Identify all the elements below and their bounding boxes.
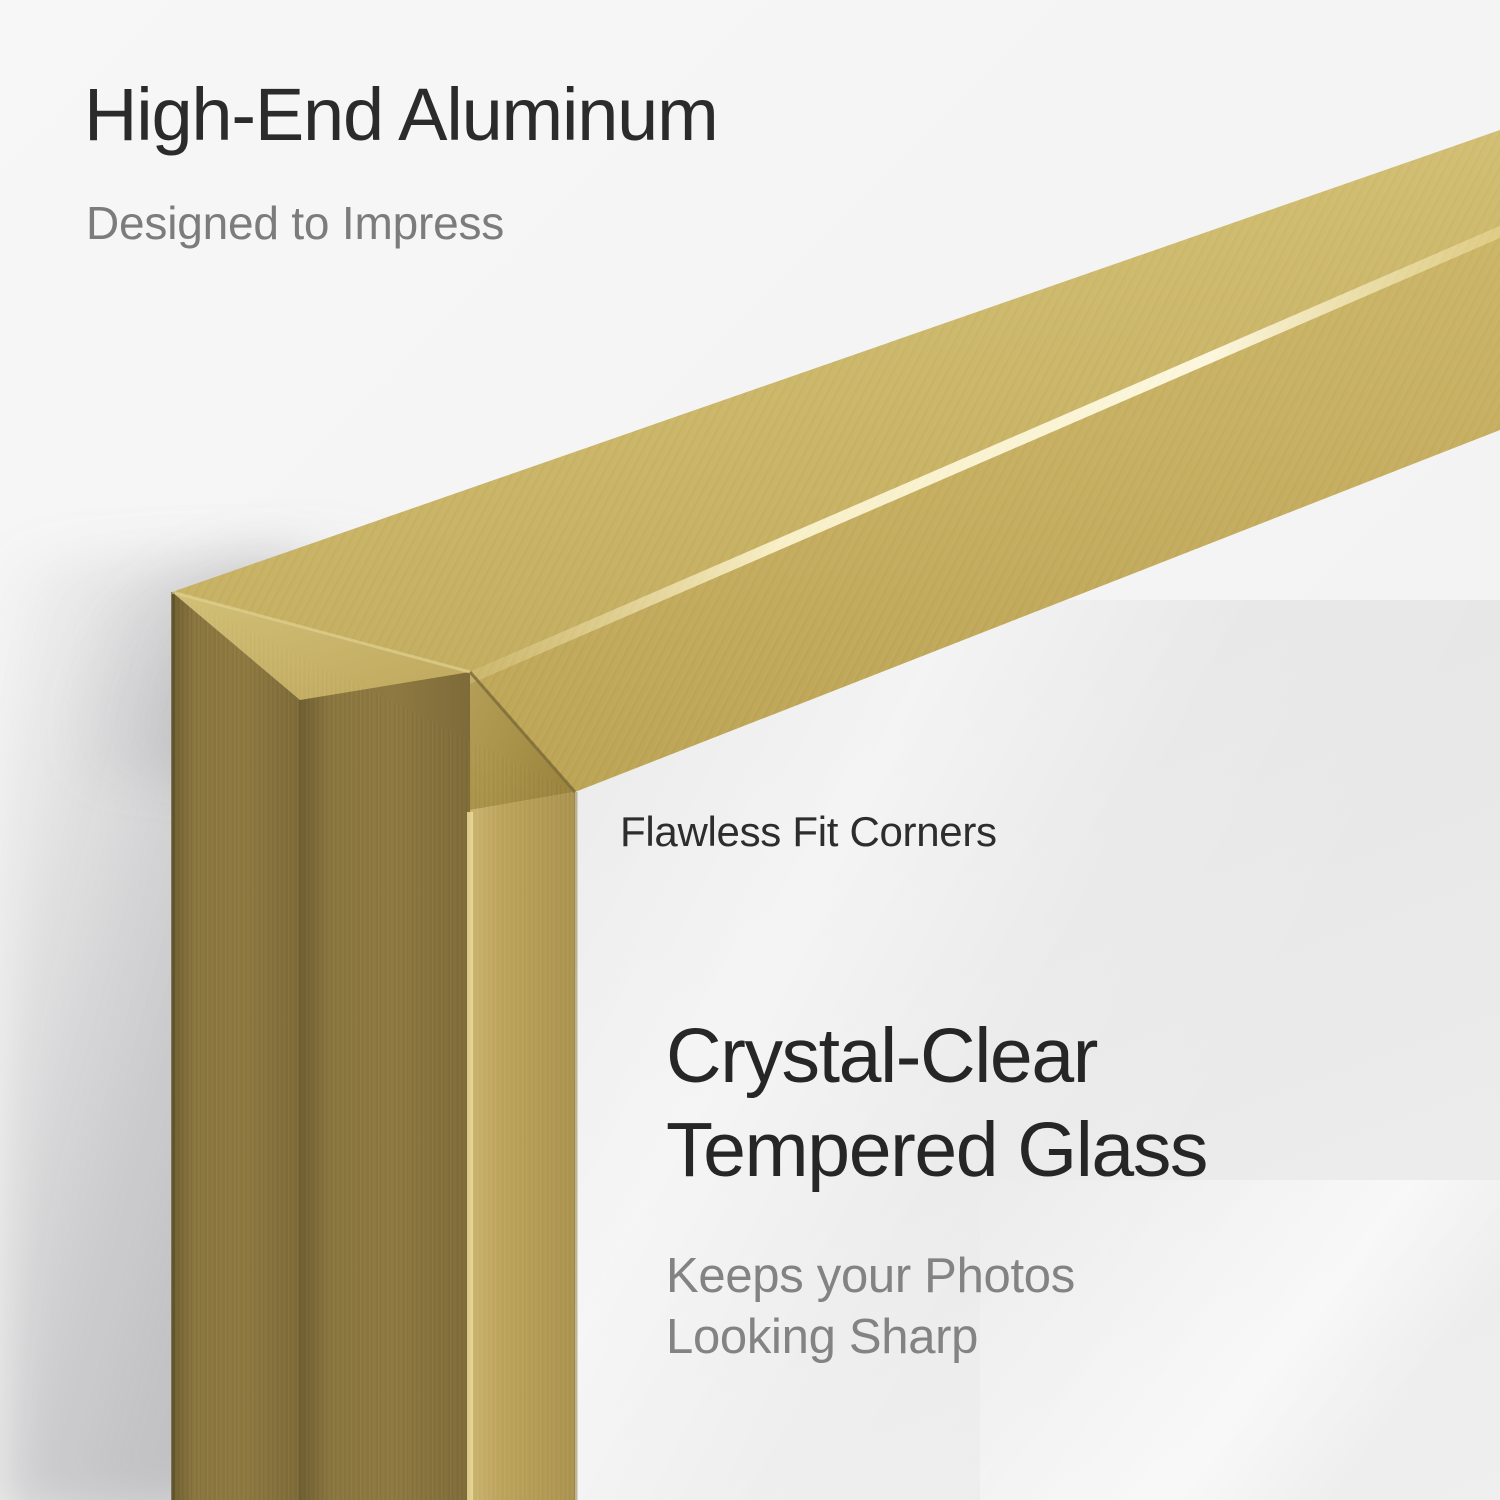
glass-feature-heading-line1: Crystal-Clear (666, 1013, 1097, 1099)
glass-feature-heading: Crystal-ClearTempered Glass (666, 1010, 1207, 1198)
glass-feature-subtext-line1: Keeps your Photos (666, 1249, 1075, 1303)
glass-feature-subtext-line2: Looking Sharp (666, 1310, 978, 1364)
page-subtitle: Designed to Impress (86, 196, 504, 250)
page-title: High-End Aluminum (84, 72, 718, 157)
glass-feature-subtext: Keeps your PhotosLooking Sharp (666, 1246, 1075, 1368)
product-feature-image: High-End Aluminum Designed to Impress Fl… (0, 0, 1500, 1500)
corner-feature-label: Flawless Fit Corners (620, 808, 997, 856)
glass-feature-heading-line2: Tempered Glass (666, 1107, 1207, 1193)
